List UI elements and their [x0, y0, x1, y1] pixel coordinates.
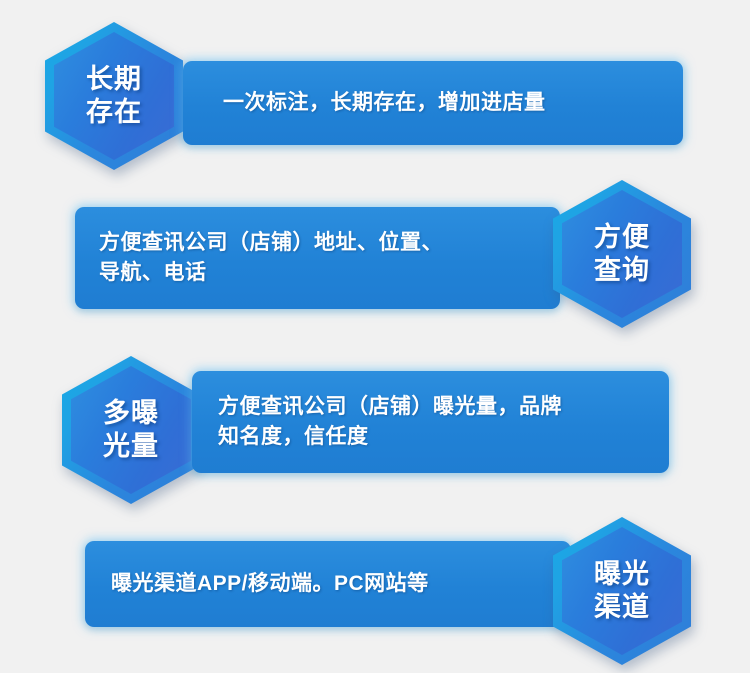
infographic-stage: 长期 存在 一次标注，长期存在，增加进店量 方便查讯公司（店铺）地址、位置、 导…	[0, 0, 750, 673]
feature-bar-text: 方便查讯公司（店铺）曝光量，品牌 知名度，信任度	[218, 392, 562, 452]
feature-bar-text: 方便查讯公司（店铺）地址、位置、 导航、电话	[99, 228, 443, 288]
feature-row-1: 长期 存在 一次标注，长期存在，增加进店量	[0, 0, 750, 190]
hex-badge-label: 长期 存在	[86, 63, 142, 129]
feature-bar-2[interactable]: 方便查讯公司（店铺）地址、位置、 导航、电话	[75, 207, 560, 309]
hex-badge-easy-query[interactable]: 方便 查询	[553, 180, 691, 328]
feature-bar-3[interactable]: 方便查讯公司（店铺）曝光量，品牌 知名度，信任度	[192, 371, 669, 473]
hex-badge-label: 曝光 渠道	[594, 558, 650, 624]
feature-row-3: 多曝 光量 方便查讯公司（店铺）曝光量，品牌 知名度，信任度	[0, 345, 750, 515]
hex-badge-label: 方便 查询	[594, 221, 650, 287]
hex-badge-label: 多曝 光量	[103, 397, 159, 463]
feature-row-4: 曝光渠道APP/移动端。PC网站等 曝光 渠道	[0, 515, 750, 673]
feature-bar-4[interactable]: 曝光渠道APP/移动端。PC网站等	[85, 541, 571, 627]
hex-badge-more-exposure[interactable]: 多曝 光量	[62, 356, 200, 504]
feature-bar-text: 一次标注，长期存在，增加进店量	[223, 88, 546, 118]
feature-bar-text: 曝光渠道APP/移动端。PC网站等	[111, 569, 429, 599]
feature-bar-1[interactable]: 一次标注，长期存在，增加进店量	[183, 61, 683, 145]
hex-badge-long-term[interactable]: 长期 存在	[45, 22, 183, 170]
feature-row-2: 方便查讯公司（店铺）地址、位置、 导航、电话 方便 查询	[0, 170, 750, 345]
hex-badge-exposure-channel[interactable]: 曝光 渠道	[553, 517, 691, 665]
